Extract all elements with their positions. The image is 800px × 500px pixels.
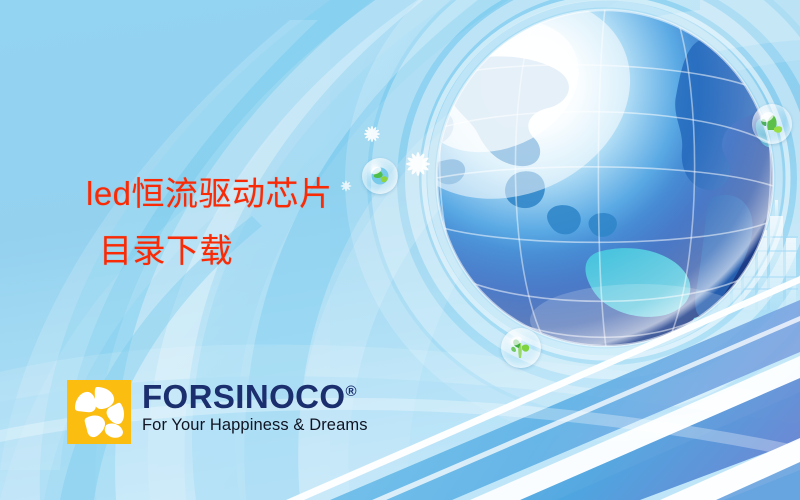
brand-tagline: For Your Happiness & Dreams bbox=[142, 416, 368, 435]
bubble-with-sprout-icon bbox=[501, 328, 541, 368]
brand-name-text: FORSINOCO bbox=[142, 378, 345, 415]
mini-globe-icon bbox=[362, 158, 398, 194]
bubble-with-globe-icon bbox=[362, 158, 398, 194]
green-leaf-icon bbox=[752, 104, 792, 144]
forsinoco-pinwheel-mark bbox=[67, 380, 131, 444]
sparkle-icon bbox=[341, 181, 352, 192]
registered-trademark-symbol: ® bbox=[345, 383, 356, 400]
logo-wordmark: FORSINOCO® For Your Happiness & Dreams bbox=[142, 380, 368, 435]
headline-line-1: led恒流驱动芯片 bbox=[86, 166, 333, 223]
headline-line-2: 目录下载 bbox=[86, 223, 333, 280]
brand-name: FORSINOCO® bbox=[142, 381, 368, 413]
green-sprout-icon bbox=[501, 328, 541, 368]
company-logo-lockup: FORSINOCO® For Your Happiness & Dreams bbox=[67, 380, 368, 444]
banner-canvas: led恒流驱动芯片 目录下载 FORSINOCO® For Your Happi… bbox=[0, 0, 800, 500]
pinwheel-petals-icon bbox=[67, 380, 131, 444]
bubble-with-leaf-icon bbox=[752, 104, 792, 144]
headline-text: led恒流驱动芯片 目录下载 bbox=[86, 166, 333, 280]
